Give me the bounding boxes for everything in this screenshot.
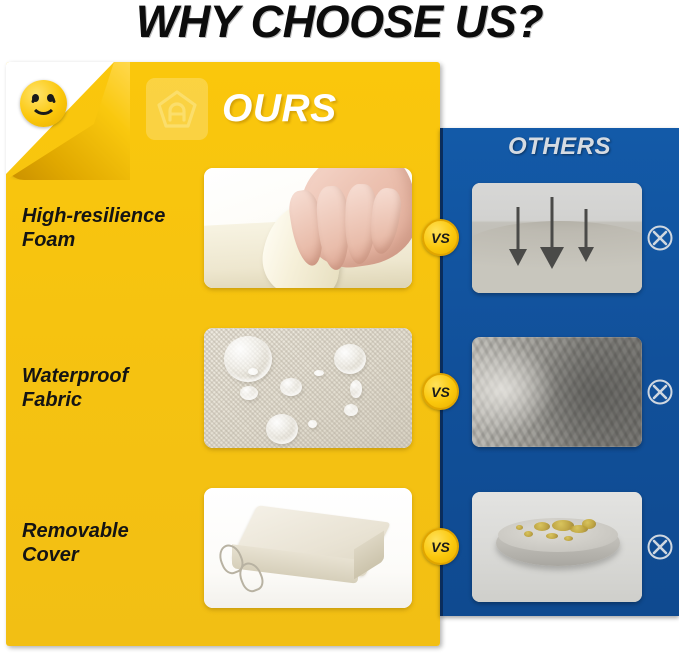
water-droplet <box>314 370 324 376</box>
vs-badge-row-2: VS <box>422 528 459 565</box>
feature-label-high-resilience-foam: High-resilience Foam <box>22 205 202 252</box>
vs-badge-row-0: VS <box>422 219 459 256</box>
water-droplet <box>248 368 258 375</box>
others-heading: OTHERS <box>440 133 679 161</box>
others-image-card-row-2 <box>472 492 642 602</box>
feature-label-removable-cover: Removable Cover <box>22 520 202 567</box>
ours-image-card-row-1 <box>204 328 412 448</box>
water-droplet <box>350 380 362 398</box>
water-droplet <box>280 378 302 396</box>
x-circle-icon <box>646 533 674 561</box>
stain-spot <box>524 531 533 537</box>
ours-image-card-row-2 <box>204 488 412 608</box>
stain-spot <box>564 536 573 541</box>
page-title: WHY CHOOSE US? <box>0 0 679 48</box>
stain-spot <box>546 533 558 539</box>
water-droplet <box>224 336 272 382</box>
x-circle-icon <box>646 224 674 252</box>
x-circle-icon <box>646 378 674 406</box>
others-image-card-row-1 <box>472 337 642 447</box>
water-droplet <box>344 404 358 416</box>
wet-fabric-image <box>472 337 642 447</box>
feature-label-waterproof-fabric: Waterproof Fabric <box>22 365 202 412</box>
stain-spot <box>516 525 523 530</box>
smiley-face-icon <box>20 80 67 127</box>
water-droplet <box>240 386 258 400</box>
others-image-card-row-0 <box>472 183 642 293</box>
house-pentagon-logo-icon <box>146 78 208 140</box>
water-droplet <box>266 414 298 444</box>
smiley-mouth <box>30 98 57 115</box>
water-droplet <box>334 344 366 374</box>
stain-spot <box>582 519 596 529</box>
water-droplet <box>308 420 317 428</box>
ours-image-card-row-0 <box>204 168 412 288</box>
ours-heading: OURS <box>222 87 337 131</box>
vs-badge-row-1: VS <box>422 373 459 410</box>
ours-header: OURS <box>146 78 337 140</box>
infographic-canvas: WHY CHOOSE US? <box>0 0 679 662</box>
page-curl-corner-icon <box>6 62 130 180</box>
stain-spot <box>534 522 550 531</box>
